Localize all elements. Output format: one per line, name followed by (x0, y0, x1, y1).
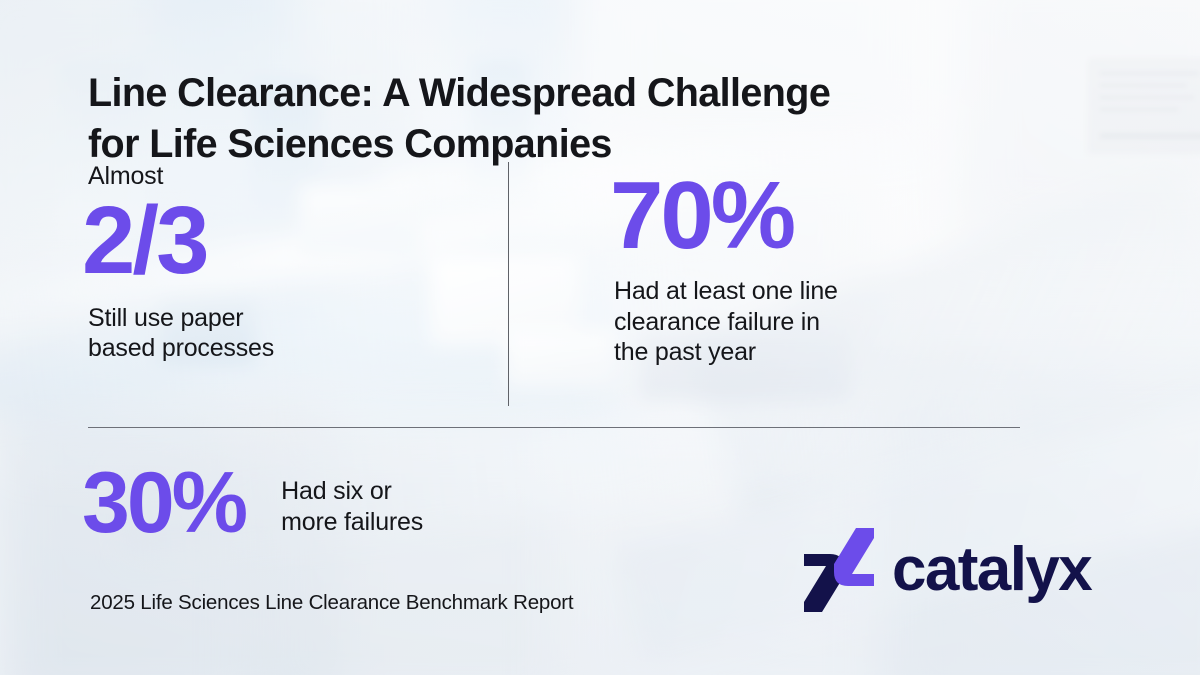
stat-block-six-or-more-failures: 30% Had six or more failures (88, 460, 423, 546)
stat-value: 70% (610, 168, 838, 264)
stat-block-paper-processes: Almost 2/3 Still use paper based process… (88, 163, 274, 364)
horizontal-divider (88, 427, 1020, 428)
vertical-divider (508, 162, 509, 406)
infographic-content: Line Clearance: A Widespread Challenge f… (0, 0, 1200, 675)
stat-block-at-least-one-failure: 70% Had at least one line clearance fail… (614, 168, 838, 368)
catalyx-wordmark: catalyx (892, 539, 1091, 601)
stat-description: Still use paper based processes (88, 303, 274, 364)
stat-value: 2/3 (82, 193, 274, 289)
stat-description: Had six or more failures (281, 476, 423, 537)
infographic-canvas: Line Clearance: A Widespread Challenge f… (0, 0, 1200, 675)
stat-value: 30% (82, 460, 245, 546)
report-source-note: 2025 Life Sciences Line Clearance Benchm… (90, 591, 573, 615)
page-title: Line Clearance: A Widespread Challenge f… (88, 68, 988, 169)
catalyx-x-mark-icon (800, 528, 878, 612)
stat-description: Had at least one line clearance failure … (614, 276, 838, 368)
catalyx-logo: catalyx (800, 528, 1091, 612)
